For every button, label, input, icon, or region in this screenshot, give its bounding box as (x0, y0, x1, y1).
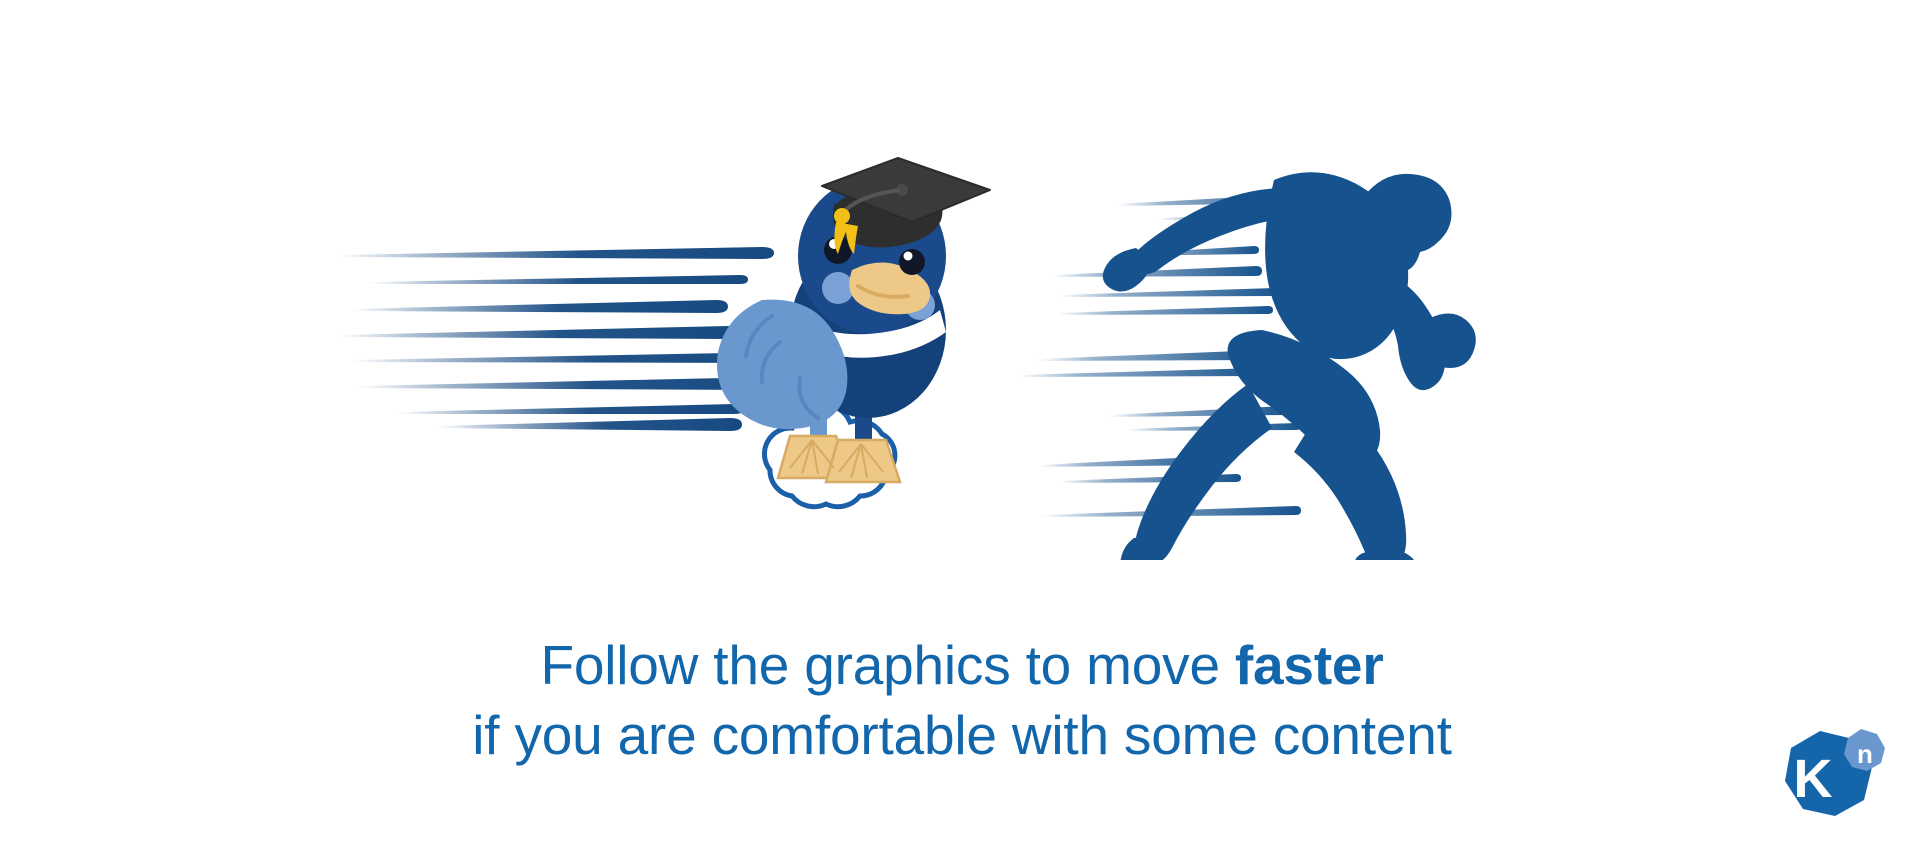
bird-cheek-left (822, 272, 854, 304)
sprinting-runner-silhouette (1103, 172, 1476, 560)
bird-eye-right (899, 249, 925, 275)
caption-emphasis-faster: faster (1235, 634, 1384, 696)
tassel-bead (834, 208, 850, 224)
hero-artwork (0, 0, 1924, 560)
caption-line-1: Follow the graphics to move faster (0, 630, 1924, 700)
caption-line-1-prefix: Follow the graphics to move (540, 634, 1234, 696)
caption-block: Follow the graphics to move faster if yo… (0, 630, 1924, 771)
slide-canvas: Follow the graphics to move faster if yo… (0, 0, 1924, 852)
graduate-bird-mascot (717, 158, 990, 507)
graduation-cap (822, 158, 990, 254)
kn-logo[interactable]: K n (1775, 723, 1893, 835)
logo-letter-k: K (1794, 749, 1833, 809)
caption-line-2: if you are comfortable with some content (0, 700, 1924, 770)
logo-letter-n: n (1857, 739, 1873, 769)
